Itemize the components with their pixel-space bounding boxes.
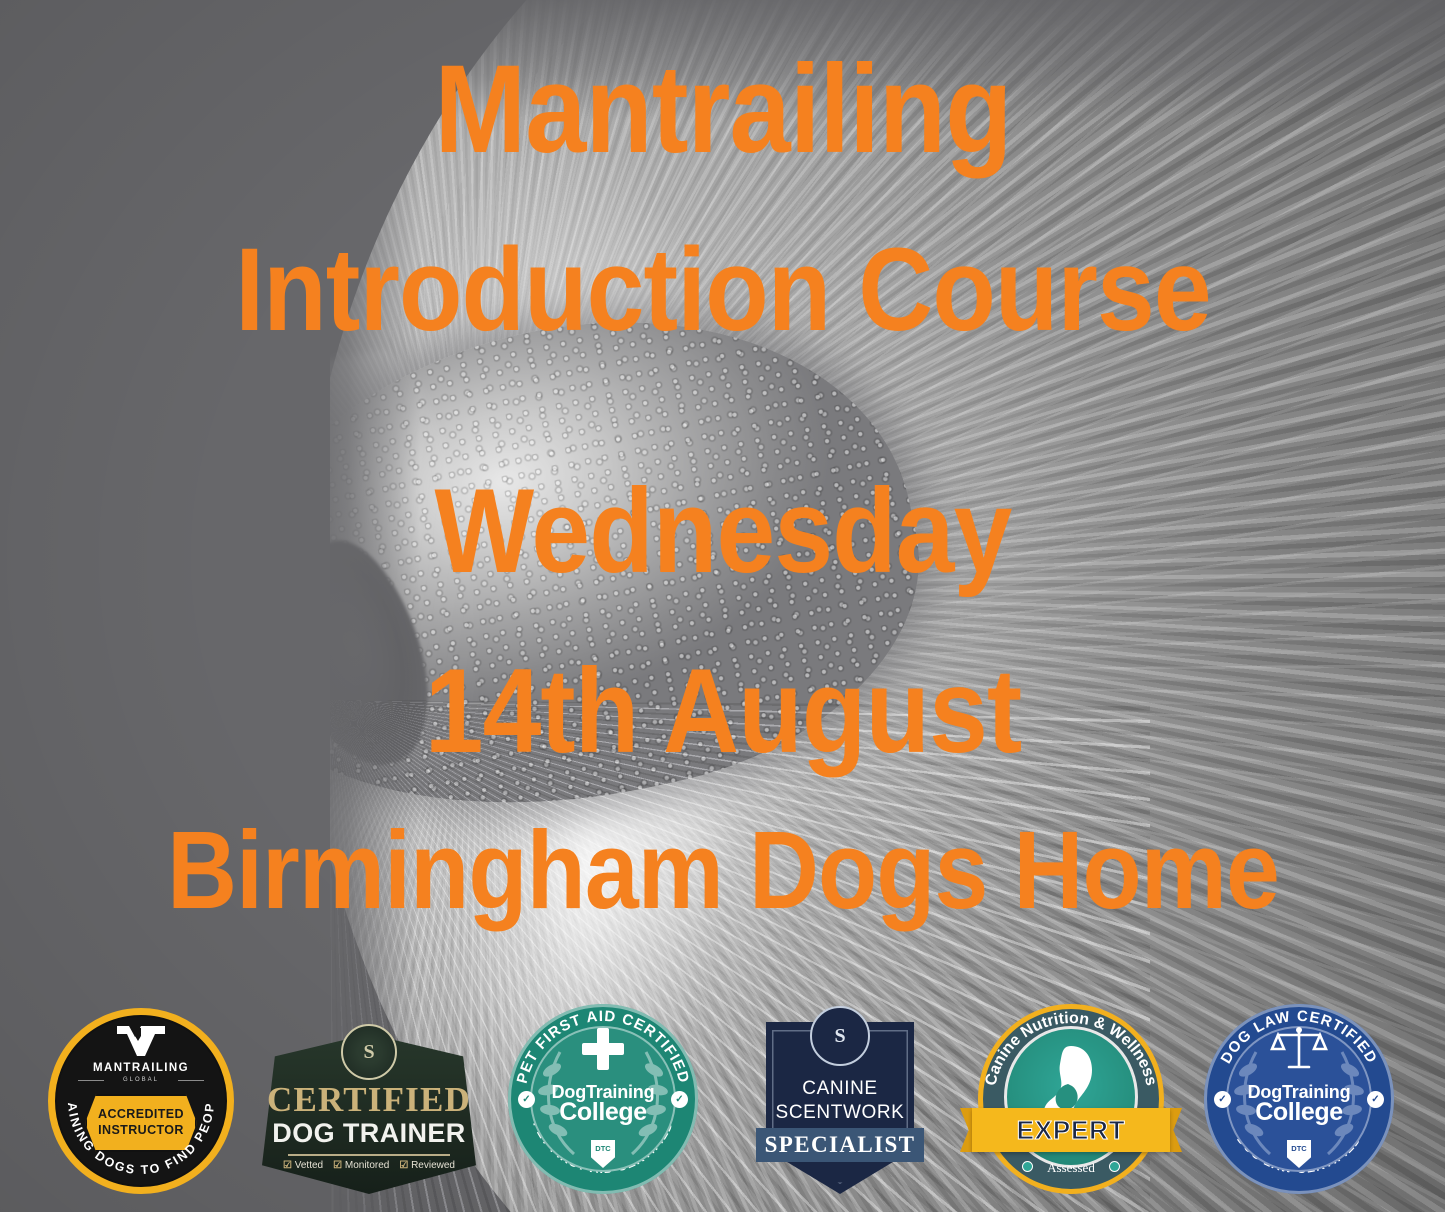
badge-brand: DogTraining College bbox=[1204, 1082, 1394, 1127]
check-icon-right: ✓ bbox=[671, 1091, 688, 1108]
badge-title-line1: CANINE bbox=[760, 1078, 920, 1100]
accreditation-badge-row: MANTRAILING GLOBAL ACCREDITED INSTRUCTOR… bbox=[0, 994, 1445, 1194]
badge-arc-text: TRAINING DOGS TO FIND PEOPLE bbox=[48, 1008, 234, 1194]
badge-band-label: SPECIALIST bbox=[765, 1132, 916, 1158]
scales-of-justice-icon bbox=[1270, 1026, 1328, 1072]
badge-pet-first-aid-certified: PET FIRST AID CERTIFIED PET FIRST AID CE… bbox=[508, 1004, 698, 1194]
badge-certified-dog-trainer: S CERTIFIED DOG TRAINER ☑ Vetted ☑ Monit… bbox=[262, 1034, 476, 1194]
event-date: 14th August bbox=[424, 650, 1021, 772]
badge-title-line2: SCENTWORK bbox=[760, 1102, 920, 1124]
badge-check-monitored: ☑ Monitored bbox=[333, 1160, 389, 1171]
badge-check-reviewed: ☑ Reviewed bbox=[399, 1160, 455, 1171]
event-day: Wednesday bbox=[434, 470, 1011, 592]
event-poster: Mantrailing Introduction Course Wednesda… bbox=[0, 0, 1445, 1212]
badge-ribbon-label: EXPERT bbox=[1017, 1115, 1126, 1146]
badge-brand-line2: College bbox=[508, 1098, 698, 1127]
badge-divider bbox=[288, 1154, 450, 1156]
check-icon-left: ✓ bbox=[518, 1091, 535, 1108]
check-icon-right: ✓ bbox=[1367, 1091, 1384, 1108]
badge-specialist-band: SPECIALIST bbox=[756, 1128, 924, 1162]
badge-laurel-seal-icon: S bbox=[810, 1006, 870, 1066]
badge-mantrailing-global: MANTRAILING GLOBAL ACCREDITED INSTRUCTOR… bbox=[48, 1008, 234, 1194]
badge-brand: DogTraining College bbox=[508, 1082, 698, 1127]
badge-canine-nutrition-wellness-expert: Canine Nutrition & Wellness EXPERT Asses… bbox=[978, 1004, 1164, 1194]
badge-canine-scentwork-specialist: S CANINE SCENTWORK SPECIALIST bbox=[760, 1004, 920, 1194]
badge-dog-law-certified: DOG LAW CERTIFIED DOG LAW CERTIFIED bbox=[1204, 1004, 1394, 1194]
badge-footer-label: Assessed bbox=[978, 1160, 1164, 1176]
badge-expert-ribbon: EXPERT bbox=[972, 1108, 1170, 1152]
badge-check-vetted: ☑ Vetted bbox=[283, 1160, 323, 1171]
svg-text:TRAINING DOGS TO FIND PEOPLE: TRAINING DOGS TO FIND PEOPLE bbox=[48, 1008, 217, 1177]
badge-title-line2: DOG TRAINER bbox=[262, 1118, 476, 1149]
event-venue: Birmingham Dogs Home bbox=[167, 815, 1279, 927]
check-icon-left: ✓ bbox=[1214, 1091, 1231, 1108]
medical-cross-icon bbox=[582, 1028, 624, 1070]
badge-brand-line2: College bbox=[1204, 1098, 1394, 1127]
headline-line-1: Mantrailing bbox=[434, 46, 1011, 174]
badge-laurel-seal-icon: S bbox=[341, 1024, 397, 1080]
headline-line-2: Introduction Course bbox=[235, 230, 1210, 350]
badge-title-line1: CERTIFIED bbox=[262, 1080, 476, 1120]
badge-check-row: ☑ Vetted ☑ Monitored ☑ Reviewed bbox=[262, 1160, 476, 1171]
